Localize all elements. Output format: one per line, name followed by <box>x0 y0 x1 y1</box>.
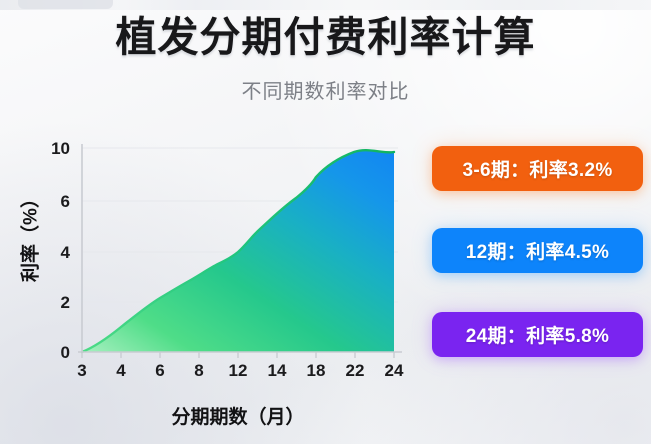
legend-card-24-label: 24期：利率5.8% <box>466 321 609 348</box>
y-tick-6: 6 <box>61 192 70 211</box>
chart-area-series <box>82 150 394 352</box>
legend-card-12[interactable]: 12期：利率4.5% <box>432 228 643 273</box>
top-decor-chip <box>18 0 113 9</box>
interest-rate-area-chart: 10 6 4 2 0 3 4 6 8 12 14 18 22 24 利率（%） … <box>0 126 430 426</box>
legend-card-3-6-label: 3-6期：利率3.2% <box>462 155 612 182</box>
legend-card-24[interactable]: 24期：利率5.8% <box>432 312 643 357</box>
chart-canvas: 10 6 4 2 0 3 4 6 8 12 14 18 22 24 <box>0 126 430 426</box>
x-tick-3: 3 <box>77 361 86 380</box>
y-tick-4: 4 <box>61 243 71 262</box>
y-tick-2: 2 <box>61 293 70 312</box>
y-axis-title: 利率（%） <box>16 171 43 301</box>
y-tick-0: 0 <box>61 343 70 362</box>
rate-legend: 3-6期：利率3.2% 12期：利率4.5% 24期：利率5.8% <box>432 140 644 362</box>
legend-card-12-label: 12期：利率4.5% <box>466 237 609 264</box>
x-axis-tick-labels: 3 4 6 8 12 14 18 22 24 <box>77 361 404 380</box>
legend-card-3-6[interactable]: 3-6期：利率3.2% <box>432 146 643 191</box>
y-axis-tick-labels: 10 6 4 2 0 <box>51 139 70 362</box>
x-tick-8: 8 <box>194 361 203 380</box>
page-subtitle: 不同期数利率对比 <box>0 78 651 106</box>
x-tick-18: 18 <box>307 361 326 380</box>
x-tick-6: 6 <box>155 361 164 380</box>
x-tick-12: 12 <box>229 361 248 380</box>
poster-canvas: 植发分期付费利率计算 不同期数利率对比 <box>0 0 651 444</box>
x-tick-4: 4 <box>116 361 126 380</box>
y-tick-10: 10 <box>51 139 70 158</box>
page-title: 植发分期付费利率计算 <box>0 12 651 62</box>
x-tick-14: 14 <box>268 361 287 380</box>
x-tick-22: 22 <box>346 361 365 380</box>
x-tick-24: 24 <box>385 361 404 380</box>
x-axis-title: 分期期数（月） <box>82 402 394 429</box>
